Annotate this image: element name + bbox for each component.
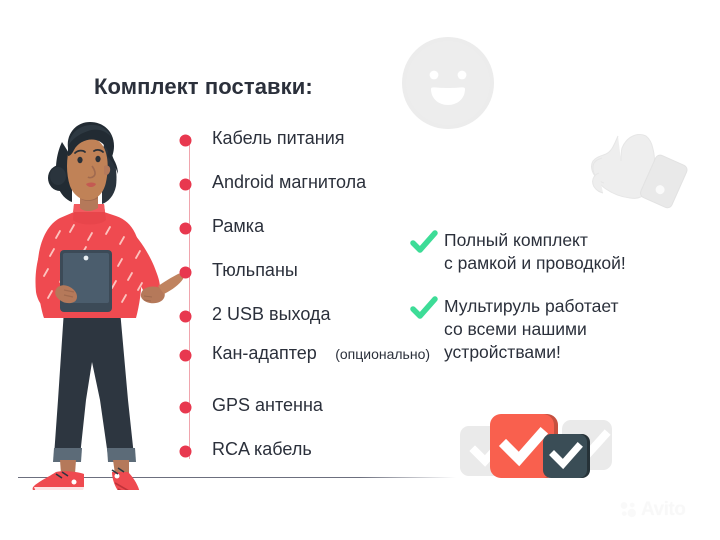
check-mark-icon: [410, 230, 438, 256]
list-item-label: Кан-адаптер: [212, 343, 317, 363]
benefit-line: со всеми нашими: [444, 318, 619, 341]
smiley-face-icon: [400, 35, 496, 131]
benefit-line: Полный комплект: [444, 229, 626, 252]
bullet-dot-icon: [180, 446, 191, 457]
benefit-item: Мультируль работает со всеми нашими устр…: [410, 295, 619, 364]
bullet-dot-icon: [180, 402, 191, 413]
avito-watermark: Avito: [620, 500, 685, 519]
list-item-label: RCA кабель: [212, 439, 312, 459]
bullet-dot-icon: [180, 311, 191, 322]
poster-canvas: Комплект поставки: Кабель питания Androi…: [0, 0, 720, 540]
list-item-label: 2 USB выхода: [212, 304, 330, 324]
thumbs-up-icon: [572, 112, 698, 222]
list-item: Кабель питания: [180, 128, 345, 149]
list-item-label: Android магнитола: [212, 172, 366, 192]
avito-wordmark: Avito: [641, 500, 685, 519]
avito-logo-icon: [620, 501, 637, 518]
check-mark-icon: [410, 296, 438, 322]
list-item: GPS антенна: [180, 395, 323, 416]
list-item: Android магнитола: [180, 172, 366, 193]
benefit-line: Мультируль работает: [444, 295, 619, 318]
bullet-dot-icon: [180, 135, 191, 146]
list-item: Тюльпаны: [180, 260, 298, 281]
list-item-label: Рамка: [212, 216, 264, 236]
bullet-dot-icon: [180, 350, 191, 361]
page-title: Комплект поставки:: [94, 74, 313, 100]
list-item: RCA кабель: [180, 439, 312, 460]
list-item: Кан-адаптер (опционально): [180, 343, 430, 364]
benefit-line: устройствами!: [444, 341, 619, 364]
list-item: 2 USB выхода: [180, 304, 330, 325]
bullet-dot-icon: [180, 223, 191, 234]
list-item: Рамка: [180, 216, 264, 237]
bullet-dot-icon: [180, 267, 191, 278]
list-item-label: Кабель питания: [212, 128, 345, 148]
checkbox-group-icon: [458, 406, 614, 490]
list-item-label: GPS антенна: [212, 395, 323, 415]
benefit-item: Полный комплект с рамкой и проводкой!: [410, 229, 626, 275]
bullet-dot-icon: [180, 179, 191, 190]
woman-with-tablet-illustration: [8, 100, 188, 490]
list-item-label: Тюльпаны: [212, 260, 298, 280]
benefit-line: с рамкой и проводкой!: [444, 252, 626, 275]
